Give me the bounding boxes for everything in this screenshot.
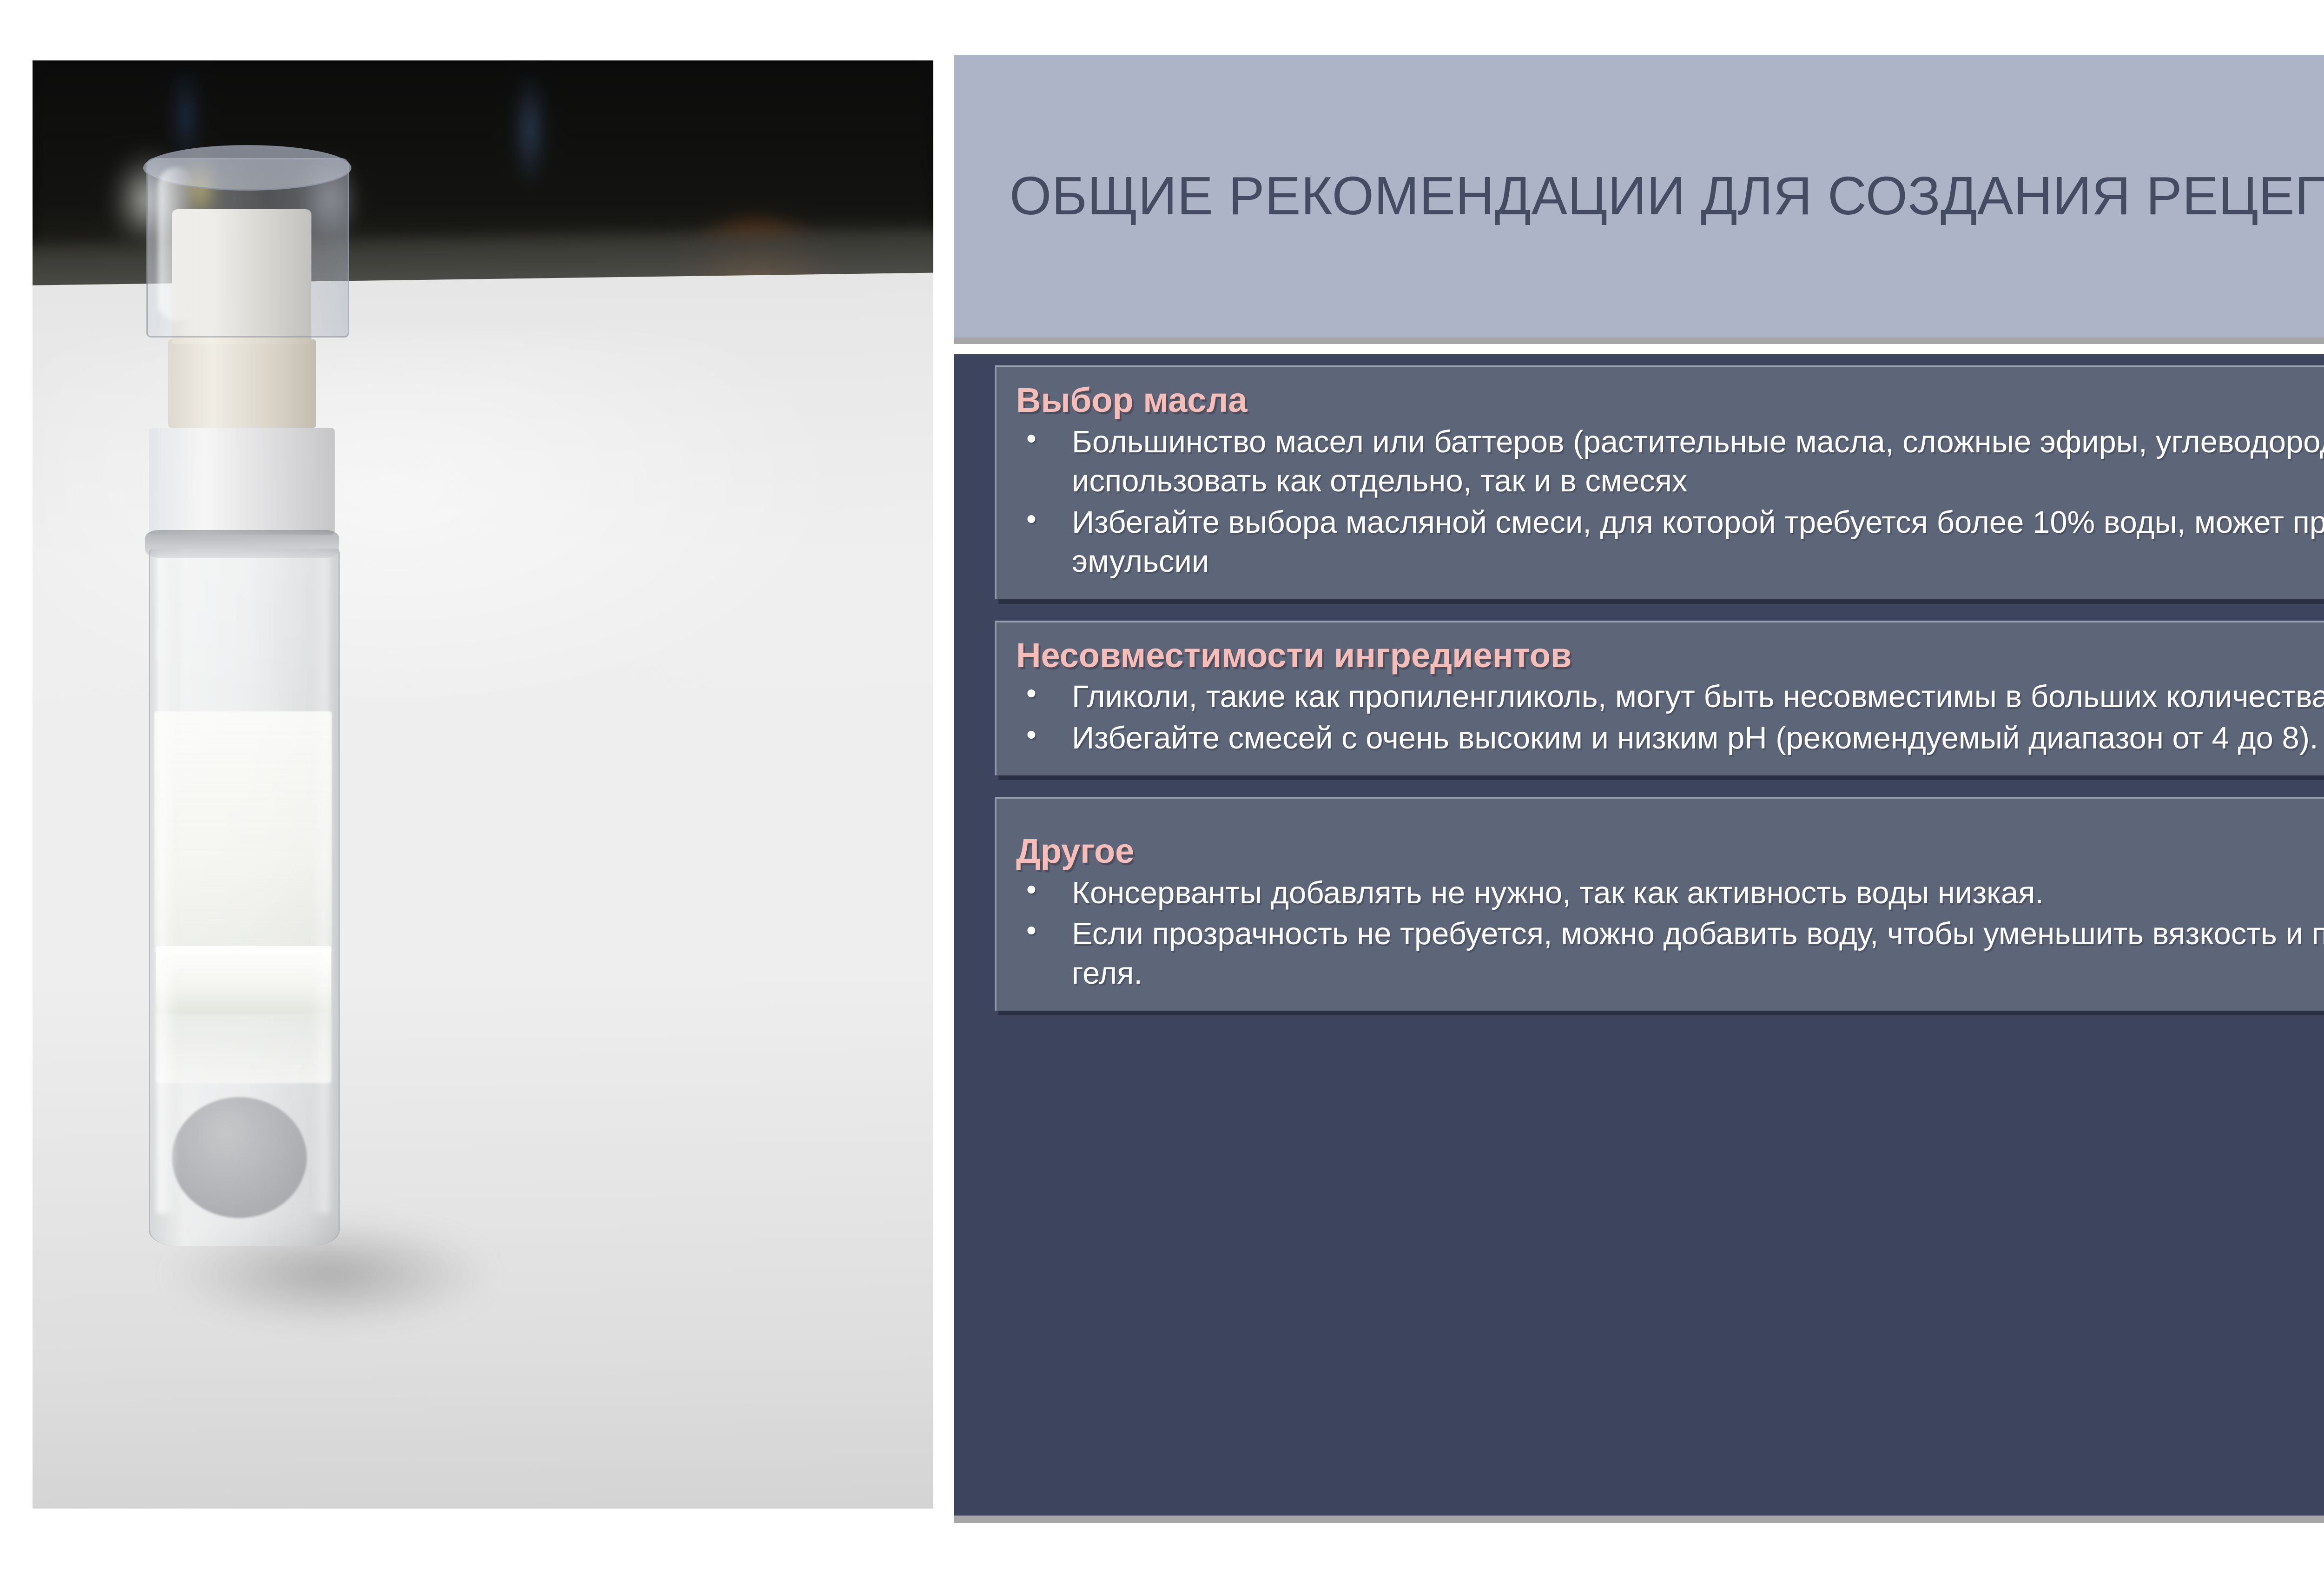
pump-neck [168, 339, 316, 428]
bottle-base-dome [172, 1097, 307, 1218]
card-oil-selection: Выбор масла Большинство масел или баттер… [995, 365, 2324, 599]
list-item: Если прозрачность не требуется, можно до… [1015, 914, 2324, 993]
list-item: Большинство масел или баттеров (растител… [1015, 423, 2324, 501]
bottle-liquid [154, 711, 332, 953]
list-item: Гликоли, такие как пропиленгликоль, могу… [1015, 677, 2324, 716]
list-item: Консерванты добавлять не нужно, так как … [1015, 874, 2324, 913]
product-photo [33, 60, 933, 1509]
list-item: Избегайте смесей с очень высоким и низки… [1015, 719, 2324, 758]
card-heading: Выбор масла [1016, 381, 2324, 420]
bullet-list: Консерванты добавлять не нужно, так как … [1015, 874, 2324, 993]
bullet-list: Большинство масел или баттеров (растител… [1015, 423, 2324, 582]
slide-title-bar: ОБЩИЕ РЕКОМЕНДАЦИИ ДЛЯ СОЗДАНИЯ РЕЦЕПТУР [954, 55, 2324, 338]
slide-title: ОБЩИЕ РЕКОМЕНДАЦИИ ДЛЯ СОЗДАНИЯ РЕЦЕПТУР [954, 163, 2324, 229]
bottle-cap-highlight [158, 167, 195, 321]
card-heading: Другое [1016, 832, 2324, 871]
content-panel: Выбор масла Большинство масел или баттер… [954, 354, 2324, 1516]
card-heading: Несовместимости ингредиентов [1016, 636, 2324, 675]
card-other: Другое Консерванты добавлять не нужно, т… [995, 797, 2324, 1011]
pump-ring [145, 530, 339, 558]
bottle-piston-lower [156, 1013, 331, 1083]
bottle-highlight-left [157, 553, 178, 1213]
bottle-piston [156, 946, 331, 1016]
bullet-list: Гликоли, такие как пропиленгликоль, могу… [1015, 677, 2324, 758]
bottle-highlight-right [310, 553, 329, 1213]
card-ingredient-incompatibilities: Несовместимости ингредиентов Гликоли, та… [995, 621, 2324, 776]
list-item: Избегайте выбора масляной смеси, для кот… [1015, 503, 2324, 582]
pump-collar [149, 428, 335, 535]
